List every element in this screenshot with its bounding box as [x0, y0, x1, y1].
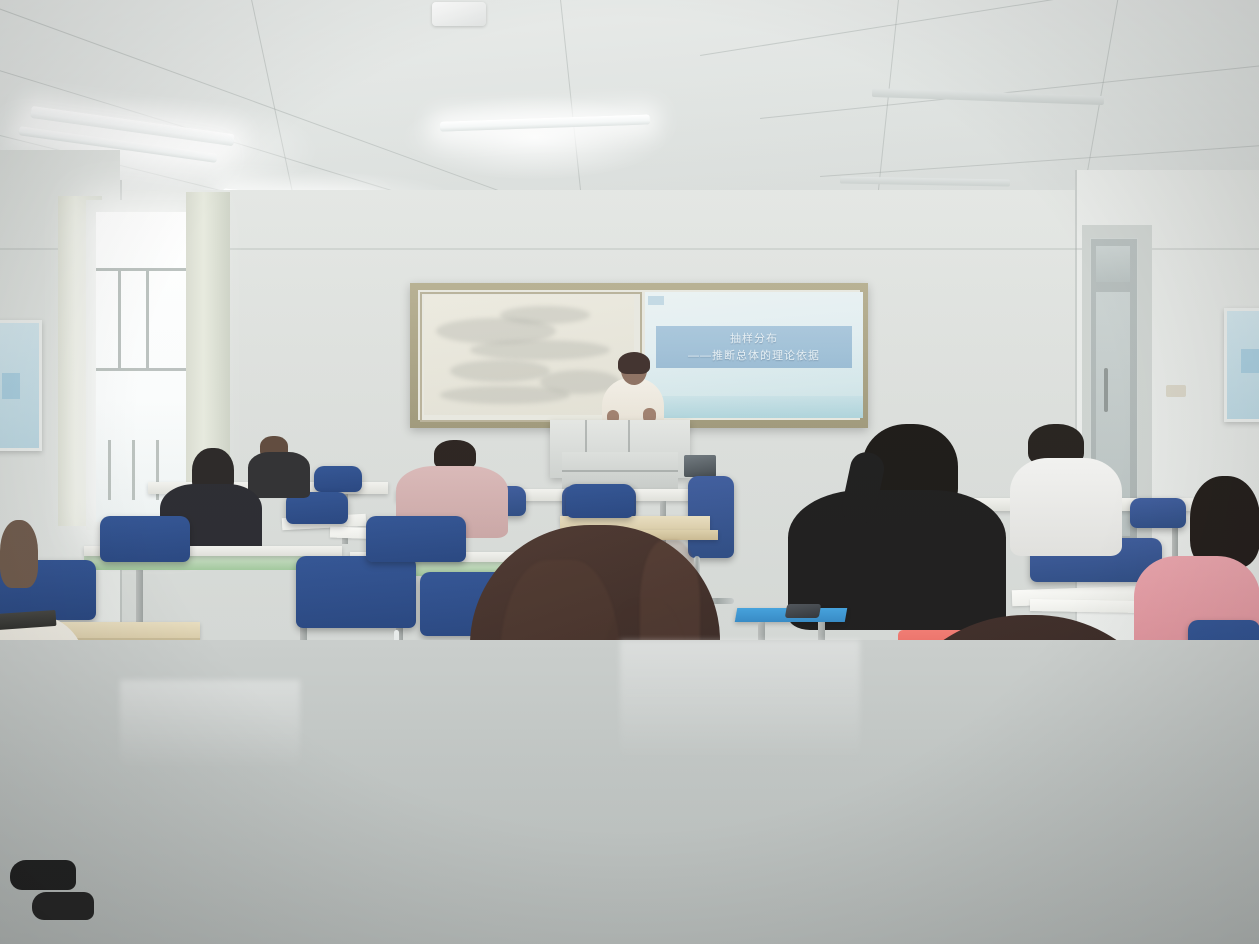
slide-title-line2: ——推断总体的理论依据 — [656, 347, 852, 363]
shoe — [10, 860, 76, 890]
chair-mid-6[interactable] — [566, 484, 634, 518]
podium-monitor — [684, 455, 716, 477]
student-back-1-body — [248, 452, 310, 498]
chair-back-row-6[interactable] — [1130, 498, 1186, 528]
wall-display-right — [1224, 308, 1259, 422]
chair-mid-4[interactable] — [366, 516, 466, 562]
shoe-2 — [32, 892, 94, 920]
slide-title-line1: 抽样分布 — [656, 330, 852, 346]
classroom-photo: 抽样分布 ——推断总体的理论依据 — [0, 0, 1259, 944]
chair-mid-3[interactable] — [296, 556, 416, 628]
wall-display-left — [0, 320, 42, 451]
slide-title-band: 抽样分布 ——推断总体的理论依据 — [656, 326, 852, 368]
wall-switch[interactable] — [1166, 385, 1186, 397]
student-right-pink-hair — [1190, 476, 1259, 568]
chair-mid-1[interactable] — [100, 516, 190, 562]
phone-on-desk[interactable] — [785, 604, 821, 618]
papers-mid-right — [1030, 599, 1140, 613]
screen-bottom-wash — [645, 396, 863, 418]
lecturer-hair — [618, 352, 650, 374]
student-mid-left-hair — [0, 520, 38, 588]
student-back-4-body — [1010, 458, 1122, 556]
chair-back-row-1[interactable] — [314, 466, 362, 492]
smoke-detector-icon — [432, 2, 486, 26]
screen-corner-mark — [648, 296, 664, 305]
